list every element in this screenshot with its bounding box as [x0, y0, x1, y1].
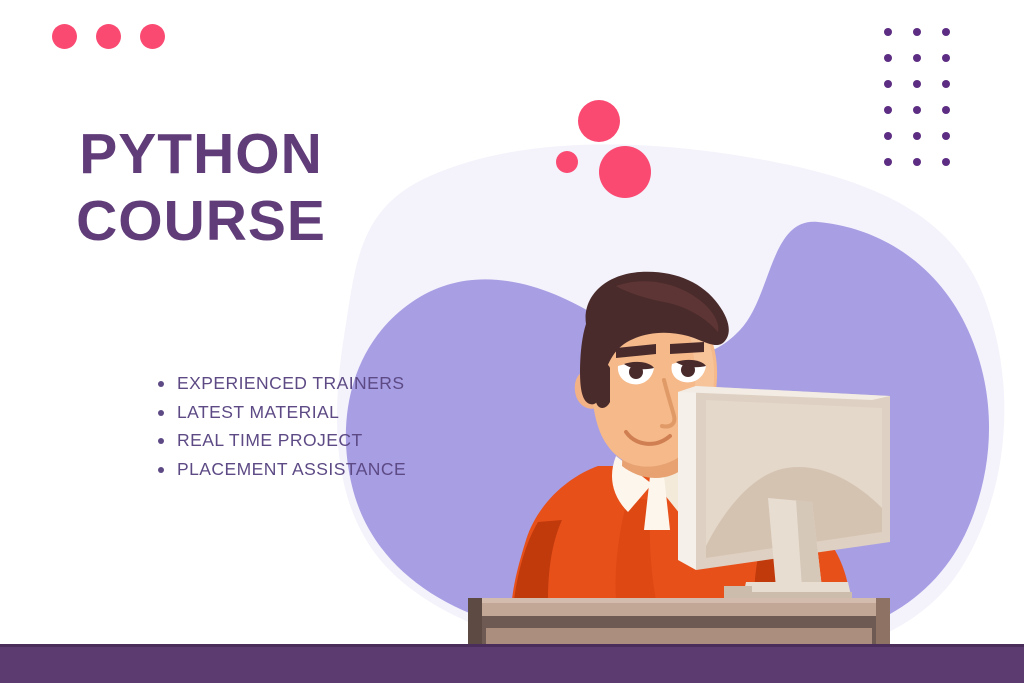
list-item: REAL TIME PROJECT — [156, 426, 406, 455]
grid-dot-icon — [942, 54, 950, 62]
desk-top-highlight — [468, 598, 890, 603]
grid-dot-icon — [884, 54, 892, 62]
illustration-man-at-computer — [420, 270, 940, 650]
page-title: PYTHON COURSE — [0, 124, 402, 251]
grid-dot-icon — [884, 106, 892, 114]
grid-dot-icon — [942, 80, 950, 88]
grid-dot-icon — [913, 132, 921, 140]
pink-dot-icon — [52, 24, 77, 49]
grid-dot-icon — [942, 132, 950, 140]
purple-dot-grid — [884, 28, 950, 166]
pink-bubble-icon — [599, 146, 651, 198]
grid-dot-icon — [884, 28, 892, 36]
title-line-1: PYTHON — [0, 124, 402, 184]
footer-bar — [0, 644, 1024, 683]
banner-canvas: PYTHON COURSE EXPERIENCED TRAINERS LATES… — [0, 0, 1024, 683]
grid-dot-icon — [884, 132, 892, 140]
grid-dot-icon — [913, 106, 921, 114]
pink-bubble-icon — [578, 100, 620, 142]
grid-dot-icon — [942, 28, 950, 36]
list-item: PLACEMENT ASSISTANCE — [156, 455, 406, 484]
desk — [468, 598, 890, 650]
desktop-monitor — [678, 386, 890, 600]
list-item: EXPERIENCED TRAINERS — [156, 369, 406, 398]
sideburn — [596, 363, 610, 408]
grid-dot-icon — [884, 158, 892, 166]
list-item: LATEST MATERIAL — [156, 398, 406, 427]
grid-dot-icon — [913, 158, 921, 166]
feature-list: EXPERIENCED TRAINERS LATEST MATERIAL REA… — [156, 369, 406, 483]
pink-dot-row — [52, 24, 165, 49]
grid-dot-icon — [913, 54, 921, 62]
pink-bubble-icon — [556, 151, 578, 173]
grid-dot-icon — [942, 158, 950, 166]
title-line-2: COURSE — [0, 191, 402, 251]
monitor-bevel — [678, 386, 696, 570]
pink-dot-icon — [140, 24, 165, 49]
desk-right-edge — [876, 598, 890, 650]
desk-left-edge — [468, 598, 482, 650]
grid-dot-icon — [913, 28, 921, 36]
pink-dot-icon — [96, 24, 121, 49]
grid-dot-icon — [884, 80, 892, 88]
monitor-base-tab — [724, 586, 752, 600]
grid-dot-icon — [913, 80, 921, 88]
eyebrow-right — [670, 342, 704, 354]
grid-dot-icon — [942, 106, 950, 114]
